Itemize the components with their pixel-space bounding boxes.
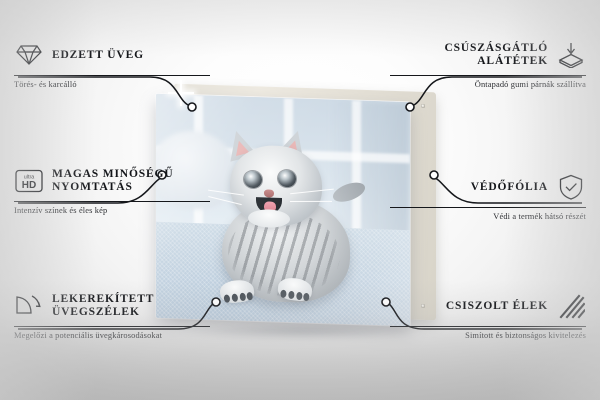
kitten — [204, 117, 372, 323]
diamond-icon — [14, 40, 44, 70]
feature-title: VÉDŐFÓLIA — [471, 181, 548, 194]
shield-check-icon — [556, 172, 586, 202]
feature-title: MAGAS MINŐSÉGŰ NYOMTATÁS — [52, 168, 210, 193]
divider — [14, 201, 210, 202]
feature-title: EDZETT ÜVEG — [52, 49, 144, 62]
divider — [390, 326, 586, 327]
divider — [390, 207, 586, 208]
rounded-corner-icon — [14, 291, 44, 321]
kitten-whisker — [290, 201, 332, 202]
feature-high-quality-print[interactable]: ultra HD MAGAS MINŐSÉGŰ NYOMTATÁS Intenz… — [14, 166, 210, 216]
feature-description: Simított és biztonságos kivitelezés — [390, 331, 586, 341]
svg-text:HD: HD — [22, 180, 36, 191]
infographic-canvas: EDZETT ÜVEG Törés- és karcálló ultra HD … — [0, 0, 600, 400]
feature-description: Megelőzi a potenciális üvegkárosodásokat — [14, 331, 210, 341]
feature-rounded-glass-edges[interactable]: LEKEREKÍTETT ÜVEGSZÉLEK Megelőzi a poten… — [14, 291, 210, 341]
divider — [390, 75, 586, 76]
kitten-eye — [244, 171, 262, 189]
kitten-paw — [219, 279, 256, 305]
feature-protective-film[interactable]: VÉDŐFÓLIA Védi a termék hátsó részét — [390, 172, 586, 222]
feature-polished-edges[interactable]: CSISZOLT ÉLEK Simított és biztonságos ki… — [390, 291, 586, 341]
kitten-tail — [330, 179, 368, 206]
feature-tempered-glass[interactable]: EDZETT ÜVEG Törés- és karcálló — [14, 40, 210, 90]
feature-description: Törés- és karcálló — [14, 80, 210, 90]
feature-description: Intenzív színek és éles kép — [14, 206, 210, 216]
feature-title: LEKEREKÍTETT ÜVEGSZÉLEK — [52, 293, 210, 318]
hatch-lines-icon — [556, 291, 586, 321]
feature-anti-slip-pads[interactable]: CSÚSZÁSGÁTLÓ ALÁTÉTEK Öntapadó gumi párn… — [390, 40, 586, 90]
feature-description: Öntapadó gumi párnák szállítva — [390, 80, 586, 90]
screw-icon — [421, 104, 425, 109]
feature-description: Védi a termék hátsó részét — [390, 212, 586, 222]
kitten-nose — [264, 189, 274, 197]
feature-title: CSÚSZÁSGÁTLÓ ALÁTÉTEK — [390, 42, 548, 67]
divider — [14, 75, 210, 76]
kitten-eye — [278, 170, 296, 188]
press-pad-icon — [556, 40, 586, 70]
ultra-hd-icon: ultra HD — [14, 166, 44, 196]
feature-title: CSISZOLT ÉLEK — [446, 300, 548, 313]
divider — [14, 326, 210, 327]
